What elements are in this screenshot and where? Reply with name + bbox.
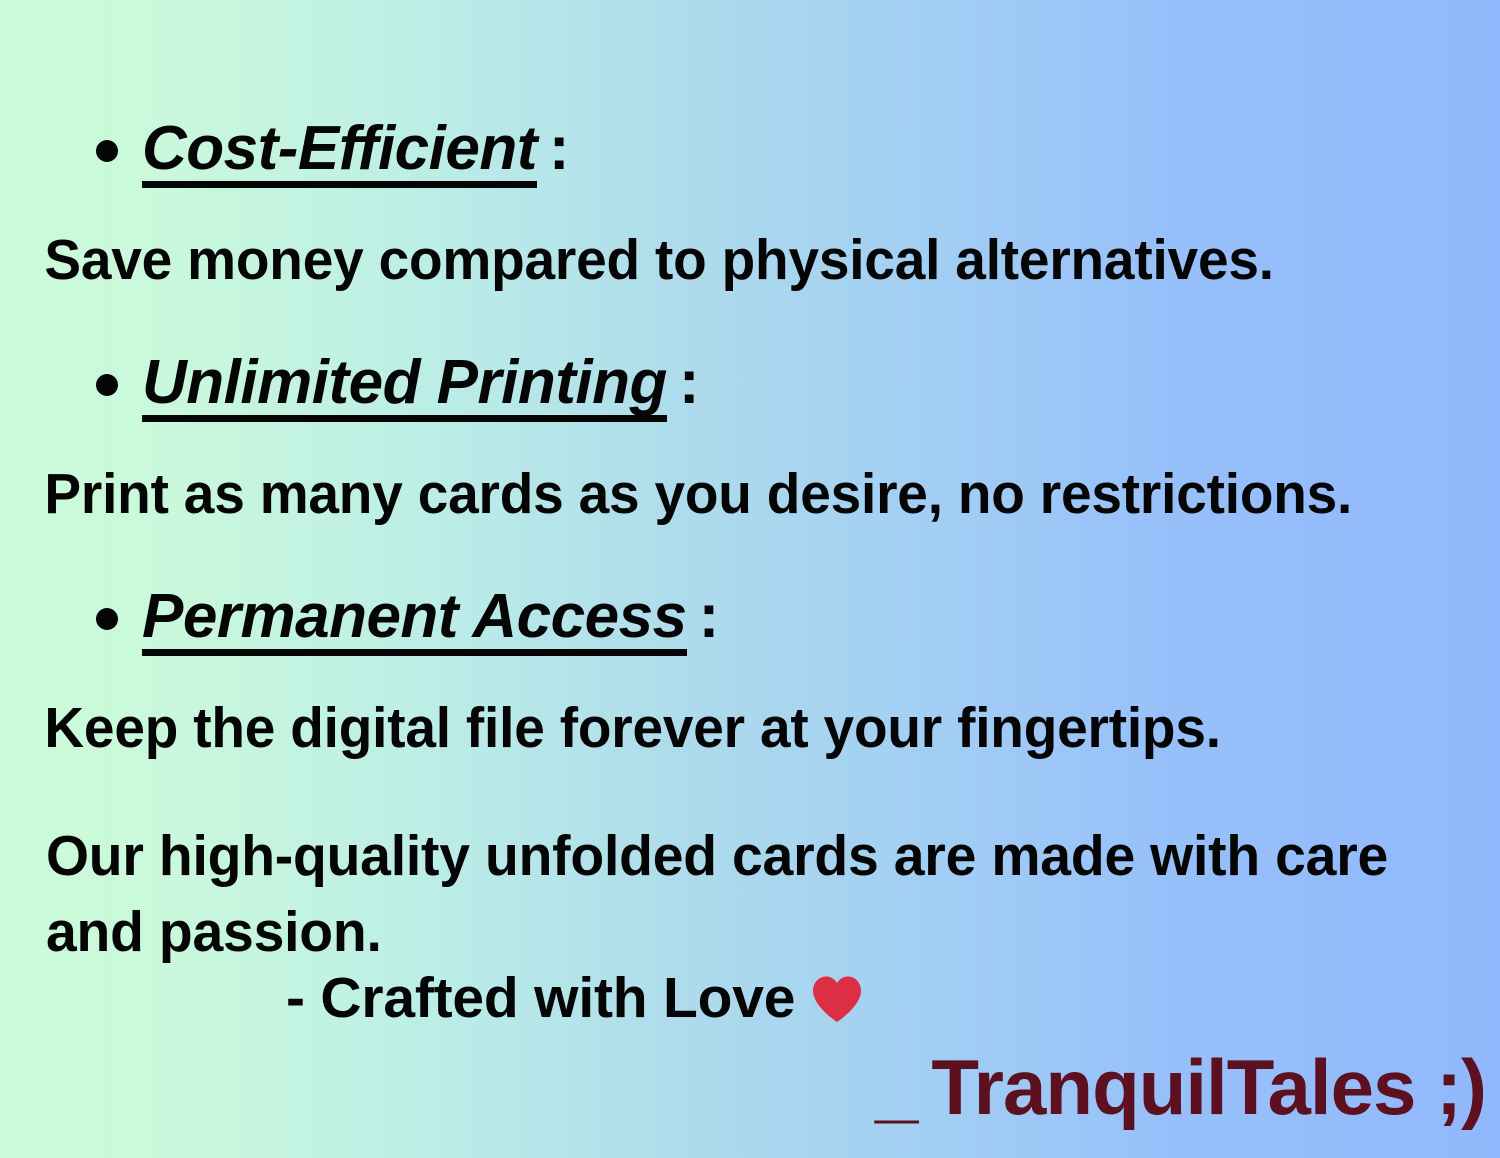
bullet-point-icon	[96, 608, 118, 630]
benefit-heading: Permanent Access:	[0, 586, 1500, 656]
benefit-item: Permanent Access: Keep the digital file …	[0, 586, 1500, 757]
benefit-heading-label: Permanent Access	[142, 586, 687, 656]
benefit-heading: Unlimited Printing:	[0, 352, 1500, 422]
brand-underscore: _	[875, 1048, 917, 1126]
benefit-description: Keep the digital file forever at your fi…	[0, 700, 1448, 757]
benefit-heading-colon: :	[549, 118, 569, 180]
benefit-heading-colon: :	[679, 352, 699, 414]
benefit-item: Unlimited Printing: Print as many cards …	[0, 352, 1500, 523]
benefit-heading-label: Cost-Efficient	[142, 118, 537, 188]
red-heart-icon	[811, 975, 863, 1023]
bullet-point-icon	[96, 374, 118, 396]
signoff-text: - Crafted with Love	[286, 966, 795, 1030]
benefit-heading: Cost-Efficient:	[0, 118, 1500, 188]
benefit-description: Save money compared to physical alternat…	[0, 232, 1448, 289]
promotional-poster: Cost-Efficient: Save money compared to p…	[0, 0, 1500, 1158]
closing-paragraph: Our high-quality unfolded cards are made…	[46, 818, 1404, 970]
benefit-item: Cost-Efficient: Save money compared to p…	[0, 118, 1500, 289]
signoff-line: - Crafted with Love	[286, 970, 863, 1027]
bullet-point-icon	[96, 140, 118, 162]
brand-signature: _TranquilTales ;)	[875, 1048, 1486, 1126]
benefit-description: Print as many cards as you desire, no re…	[0, 466, 1448, 523]
brand-name: TranquilTales ;)	[931, 1043, 1486, 1131]
benefit-heading-colon: :	[699, 586, 719, 648]
benefit-heading-label: Unlimited Printing	[142, 352, 667, 422]
